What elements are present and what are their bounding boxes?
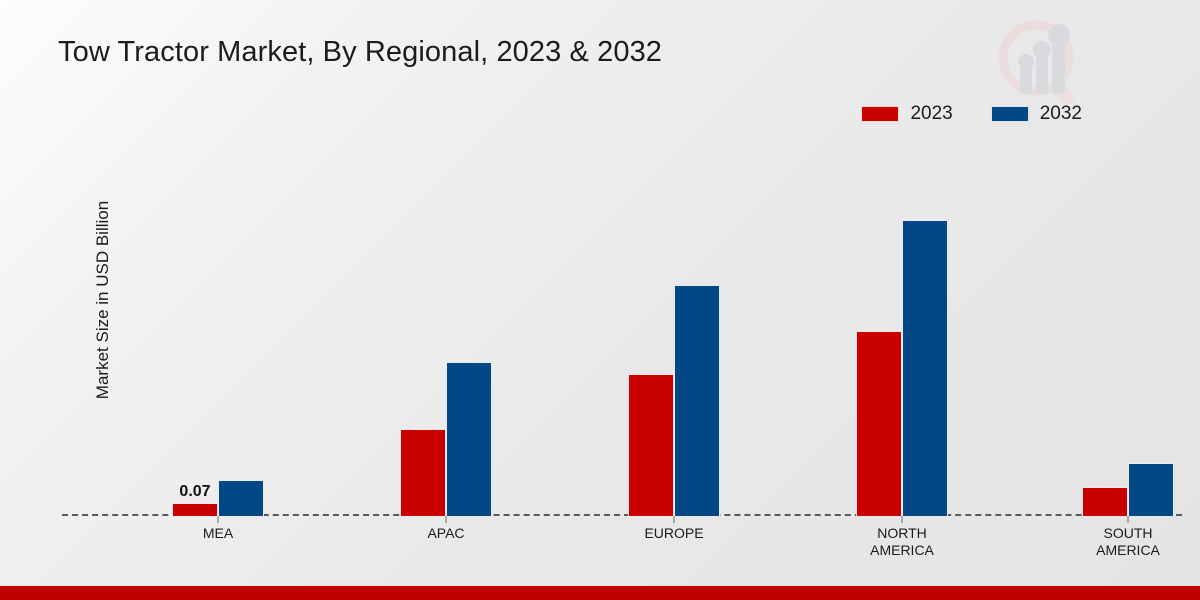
axis-tick xyxy=(674,516,675,523)
bar-2032[interactable] xyxy=(218,480,264,516)
bar-2023[interactable] xyxy=(1082,487,1128,516)
bar-value-label: 0.07 xyxy=(179,483,210,501)
legend-item-2023[interactable]: 2023 xyxy=(861,103,952,125)
bar-2023[interactable]: 0.07 xyxy=(172,503,218,516)
axis-tick xyxy=(218,516,219,523)
legend-label: 2023 xyxy=(910,103,952,125)
bar-2023[interactable] xyxy=(856,331,902,516)
category-label: SOUTH AMERICA xyxy=(1096,525,1160,559)
bar-group: SOUTH AMERICA xyxy=(1081,463,1175,516)
bar-2032[interactable] xyxy=(1128,463,1174,516)
chart-container: Tow Tractor Market, By Regional, 2023 & … xyxy=(0,0,1200,600)
legend-swatch-icon xyxy=(991,106,1029,122)
category-label: MEA xyxy=(203,525,233,542)
bar-group: 0.07MEA xyxy=(171,480,265,516)
category-label: NORTH AMERICA xyxy=(870,525,934,559)
footer-accent-bar xyxy=(0,586,1200,600)
bar-2032[interactable] xyxy=(446,362,492,516)
bar-2023[interactable] xyxy=(400,429,446,516)
legend-item-2032[interactable]: 2032 xyxy=(991,103,1082,125)
legend-swatch-icon xyxy=(861,106,899,122)
bar-group: EUROPE xyxy=(627,285,721,516)
plot-area: 0.07MEAAPACEUROPENORTH AMERICASOUTH AMER… xyxy=(62,130,1182,516)
bar-group: APAC xyxy=(399,362,493,516)
market-research-magnifier-logo-icon xyxy=(988,14,1096,110)
category-label: APAC xyxy=(427,525,464,542)
legend-label: 2032 xyxy=(1040,103,1082,125)
bar-group: NORTH AMERICA xyxy=(855,220,949,516)
axis-tick xyxy=(446,516,447,523)
axis-tick xyxy=(902,516,903,523)
chart-legend: 2023 2032 xyxy=(861,103,1082,125)
bar-2023[interactable] xyxy=(628,374,674,516)
bar-2032[interactable] xyxy=(674,285,720,516)
axis-tick xyxy=(1128,516,1129,523)
category-label: EUROPE xyxy=(644,525,703,542)
bar-2032[interactable] xyxy=(902,220,948,516)
chart-title: Tow Tractor Market, By Regional, 2023 & … xyxy=(58,36,662,69)
